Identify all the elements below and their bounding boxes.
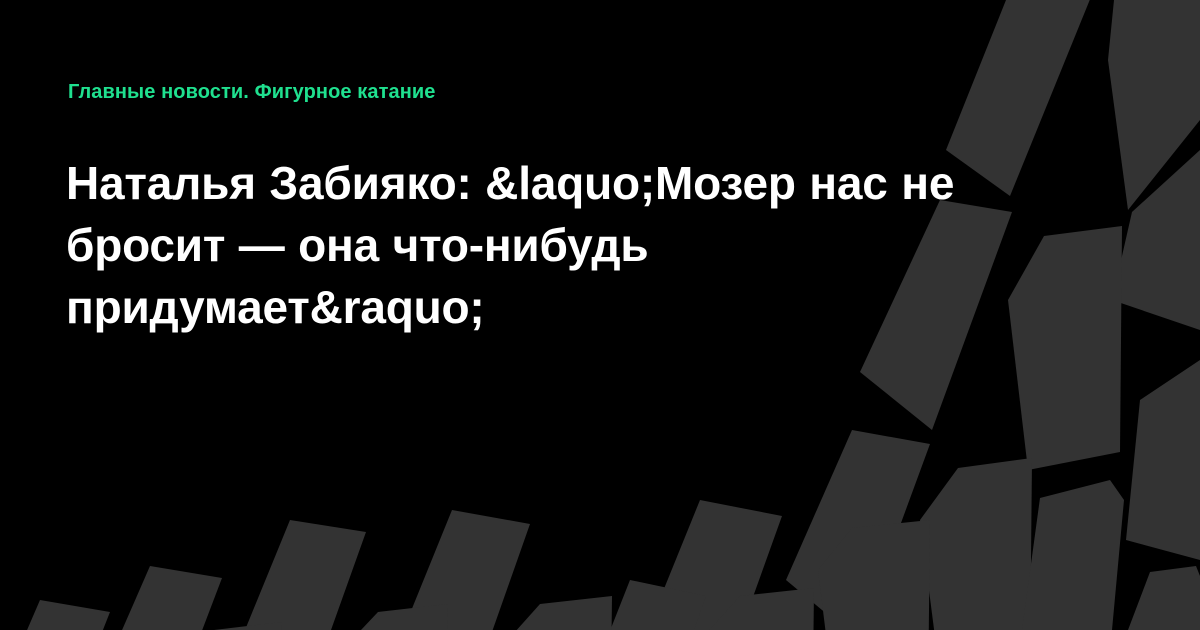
pattern-shape (920, 458, 1032, 630)
pattern-shape (578, 580, 706, 630)
pattern-shape (182, 622, 282, 630)
pattern-shape (396, 510, 530, 630)
pattern-shape (1112, 150, 1200, 330)
kicker-label: Главные новости. Фигурное катание (68, 80, 436, 104)
pattern-shape (506, 596, 612, 630)
pattern-shape (1128, 566, 1200, 630)
news-share-card: Главные новости. Фигурное катание Наталь… (0, 0, 1200, 630)
pattern-shape (818, 520, 930, 630)
pattern-shape (1022, 480, 1124, 630)
pattern-shape (640, 500, 782, 630)
pattern-shape (344, 604, 448, 630)
pattern-shape (1126, 360, 1200, 560)
pattern-shape (1108, 0, 1200, 210)
pattern-shape (236, 520, 366, 630)
pattern-shape (704, 588, 814, 630)
pattern-shape (102, 566, 222, 630)
pattern-shape (0, 600, 110, 630)
pattern-shape (786, 430, 930, 630)
page-title: Наталья Забияко: &laquo;Мозер нас не бро… (66, 152, 1076, 338)
